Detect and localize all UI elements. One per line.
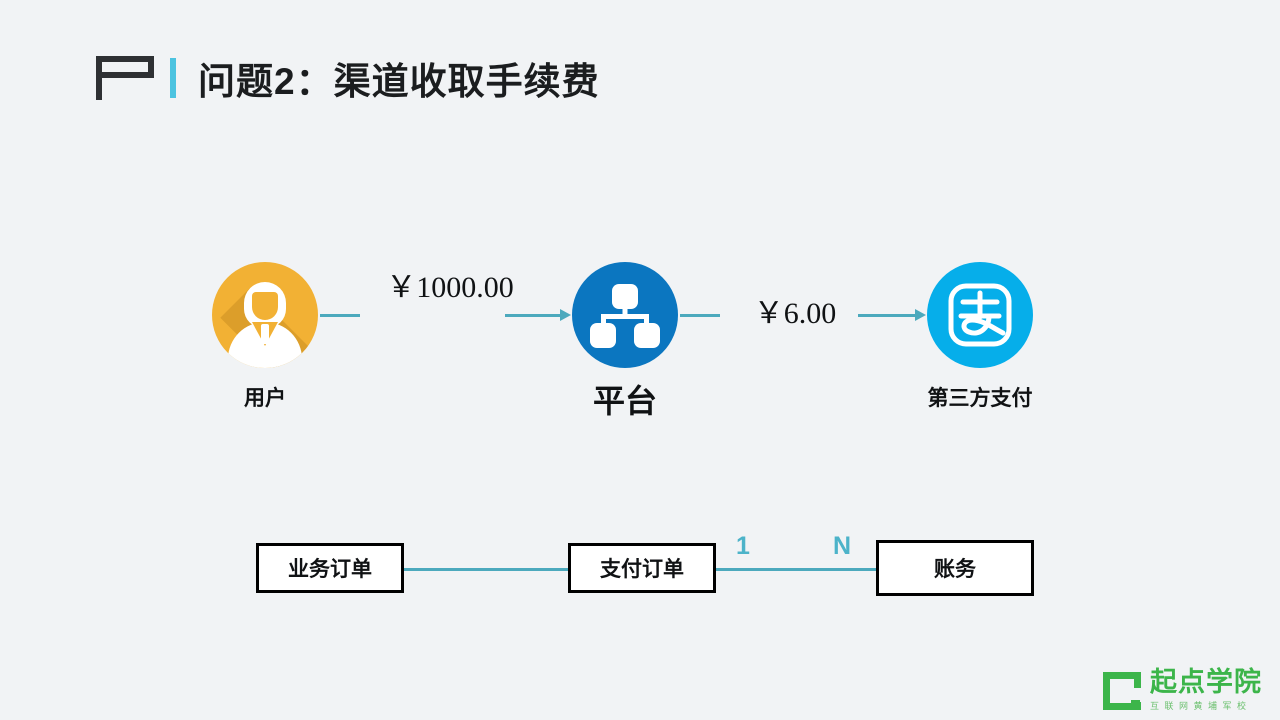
hierarchy-icon-top-node bbox=[612, 284, 638, 309]
watermark-title: 起点学院 bbox=[1150, 669, 1262, 697]
er-box-label-payment-order: 支付订单 bbox=[600, 553, 684, 583]
flag-mark-leg bbox=[96, 78, 102, 100]
flow-node-label-third-party-payment: 第三方支付 bbox=[885, 382, 1075, 412]
title-separator-bar bbox=[170, 58, 176, 98]
slide-title-bar: 问题2：渠道收取手续费 bbox=[96, 48, 600, 108]
amount-platform-to-payment: ￥6.00 bbox=[720, 296, 870, 333]
er-box-label-accounting: 账务 bbox=[934, 553, 976, 583]
user-icon-face bbox=[252, 292, 278, 320]
er-box-label-business-order: 业务订单 bbox=[288, 553, 372, 583]
amount-user-to-platform: ￥1000.00 bbox=[345, 270, 555, 307]
user-icon-tie bbox=[261, 324, 269, 344]
arrow-platform-to-payment-left bbox=[680, 314, 720, 317]
q-bracket-logo-icon bbox=[1103, 672, 1141, 710]
flow-node-label-user: 用户 bbox=[170, 382, 360, 412]
watermark-subtitle: 互联网黄埔军校 bbox=[1150, 699, 1262, 712]
watermark-logo: 起点学院 互联网黄埔军校 bbox=[1103, 669, 1262, 712]
er-box-accounting[interactable]: 账务 bbox=[876, 540, 1034, 596]
flag-mark-top bbox=[96, 56, 154, 78]
er-line-business-to-payment bbox=[400, 568, 572, 571]
flow-node-platform: 平台 bbox=[530, 262, 720, 422]
org-hierarchy-icon bbox=[572, 262, 678, 368]
entity-relation-diagram: 业务订单 支付订单 账务 1 N bbox=[0, 520, 1280, 630]
payment-flow-diagram: 用户 ￥1000.00 平台 ￥6.00 bbox=[0, 262, 1280, 422]
hierarchy-icon-left-node bbox=[590, 323, 616, 348]
er-cardinality-one: 1 bbox=[736, 532, 750, 561]
flow-node-label-platform: 平台 bbox=[530, 376, 720, 422]
arrow-user-to-platform-left bbox=[320, 314, 360, 317]
flag-mark-icon bbox=[96, 56, 154, 100]
er-box-payment-order[interactable]: 支付订单 bbox=[568, 543, 716, 593]
watermark-text: 起点学院 互联网黄埔军校 bbox=[1150, 669, 1262, 712]
hierarchy-icon-connector bbox=[601, 314, 649, 319]
alipay-icon bbox=[927, 262, 1033, 368]
flow-node-third-party-payment: 第三方支付 bbox=[885, 262, 1075, 412]
er-line-payment-to-accounting bbox=[712, 568, 880, 571]
page-title: 问题2：渠道收取手续费 bbox=[198, 51, 600, 105]
user-avatar-icon bbox=[212, 262, 318, 368]
er-cardinality-many: N bbox=[833, 532, 851, 561]
er-box-business-order[interactable]: 业务订单 bbox=[256, 543, 404, 593]
hierarchy-icon-right-node bbox=[634, 323, 660, 348]
flow-node-user: 用户 bbox=[170, 262, 360, 412]
q-bracket-dot bbox=[1131, 700, 1140, 709]
